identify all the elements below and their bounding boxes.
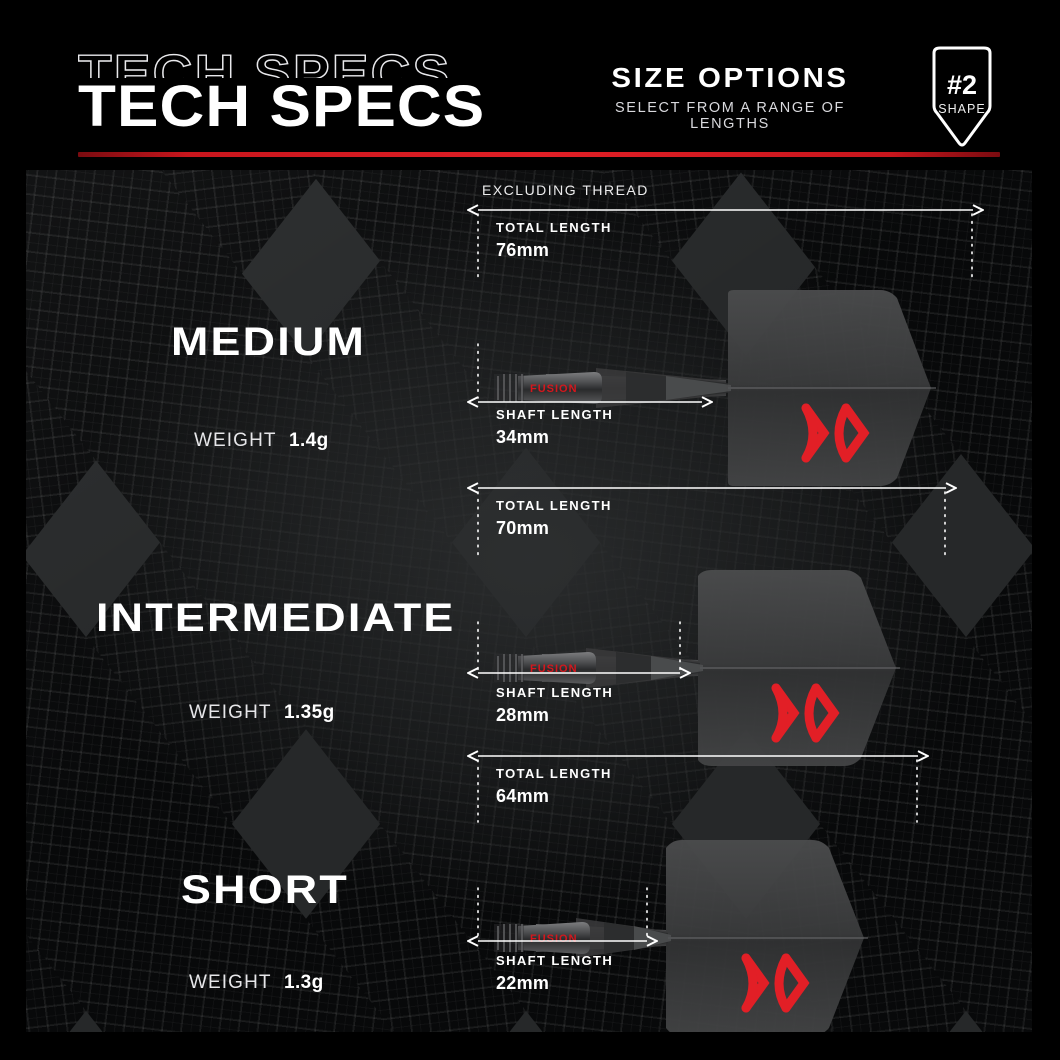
page-title-text: TECH SPECS: [78, 76, 485, 138]
total-length-short: TOTAL LENGTH 64mm: [496, 766, 612, 807]
size-options-subtitle: SELECT FROM A RANGE OF LENGTHS: [580, 100, 880, 132]
page-title: TECH SPECS TECH SPECS: [78, 48, 548, 140]
weight-label-intermediate: WEIGHT: [189, 702, 271, 723]
specs-panel: MEDIUM WEIGHT 1.4g INTERMEDIATE WEIGHT 1…: [26, 170, 1032, 1032]
dart-illustration-short: FUSION: [476, 838, 956, 1032]
size-name-short: SHORT: [181, 870, 349, 910]
shaft-length-caption-medium: SHAFT LENGTH: [496, 407, 613, 422]
size-weight-medium: WEIGHT 1.4g: [194, 430, 329, 452]
total-length-value-short: 64mm: [496, 786, 612, 807]
shaft-length-medium: SHAFT LENGTH 34mm: [496, 407, 613, 448]
total-length-caption-intermediate: TOTAL LENGTH: [496, 498, 612, 513]
size-weight-short: WEIGHT 1.3g: [189, 972, 324, 994]
shape-badge: #2 SHAPE: [920, 44, 1004, 150]
tech-specs-page: TECH SPECS TECH SPECS SIZE OPTIONS SELEC…: [0, 0, 1060, 1060]
total-length-value-intermediate: 70mm: [496, 518, 612, 539]
total-length-value-medium: 76mm: [496, 240, 612, 261]
weight-value-short: 1.3g: [284, 972, 324, 993]
shaft-brand-text: FUSION: [530, 383, 578, 395]
total-length-caption-medium: TOTAL LENGTH: [496, 220, 612, 235]
size-options-title: SIZE OPTIONS: [573, 62, 888, 94]
dart-flight: [666, 840, 864, 1032]
size-name-medium: MEDIUM: [171, 322, 366, 362]
page-header: TECH SPECS TECH SPECS SIZE OPTIONS SELEC…: [0, 0, 1060, 170]
shaft-length-short: SHAFT LENGTH 22mm: [496, 953, 613, 994]
shaft-length-caption-intermediate: SHAFT LENGTH: [496, 685, 613, 700]
shaft-brand-text: FUSION: [530, 663, 578, 675]
total-length-caption-short: TOTAL LENGTH: [496, 766, 612, 781]
total-length-intermediate: TOTAL LENGTH 70mm: [496, 498, 612, 539]
weight-value-medium: 1.4g: [289, 430, 329, 451]
excluding-thread-note: EXCLUDING THREAD: [482, 182, 649, 198]
shape-badge-label: SHAPE: [920, 102, 1004, 116]
shape-badge-number: #2: [920, 70, 1004, 101]
header-accent-rule: [78, 152, 1000, 157]
shaft-brand-text: FUSION: [530, 933, 578, 945]
size-weight-intermediate: WEIGHT 1.35g: [189, 702, 335, 724]
weight-label-medium: WEIGHT: [194, 430, 276, 451]
total-length-medium: TOTAL LENGTH 76mm: [496, 220, 612, 261]
shaft-length-value-intermediate: 28mm: [496, 705, 613, 726]
size-options-heading: SIZE OPTIONS SELECT FROM A RANGE OF LENG…: [580, 62, 880, 132]
size-name-intermediate: INTERMEDIATE: [96, 598, 456, 638]
shaft-length-value-short: 22mm: [496, 973, 613, 994]
shaft-length-caption-short: SHAFT LENGTH: [496, 953, 613, 968]
shaft-length-value-medium: 34mm: [496, 427, 613, 448]
shaft-length-intermediate: SHAFT LENGTH 28mm: [496, 685, 613, 726]
weight-label-short: WEIGHT: [189, 972, 271, 993]
weight-value-intermediate: 1.35g: [284, 702, 335, 723]
